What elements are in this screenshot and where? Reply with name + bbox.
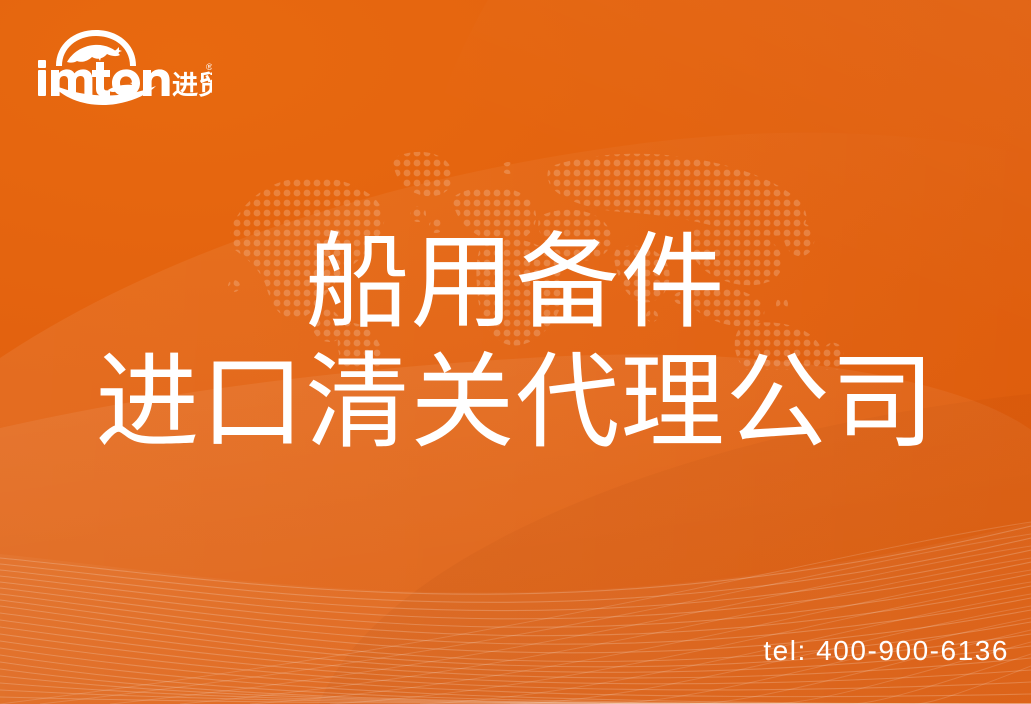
promo-banner: 进贸通 ® 船用备件 进口清关代理公司 tel: 400-900-6136 — [0, 0, 1031, 704]
company-logo[interactable]: 进贸通 ® — [34, 26, 212, 106]
headline-line-2: 进口清关代理公司 — [0, 344, 1031, 462]
headline-line-1: 船用备件 — [0, 222, 1031, 344]
contact-phone[interactable]: tel: 400-900-6136 — [763, 635, 1009, 667]
registered-mark: ® — [206, 62, 212, 72]
logo-chinese-name: 进贸通 — [172, 71, 212, 101]
headline-block: 船用备件 进口清关代理公司 — [0, 222, 1031, 462]
